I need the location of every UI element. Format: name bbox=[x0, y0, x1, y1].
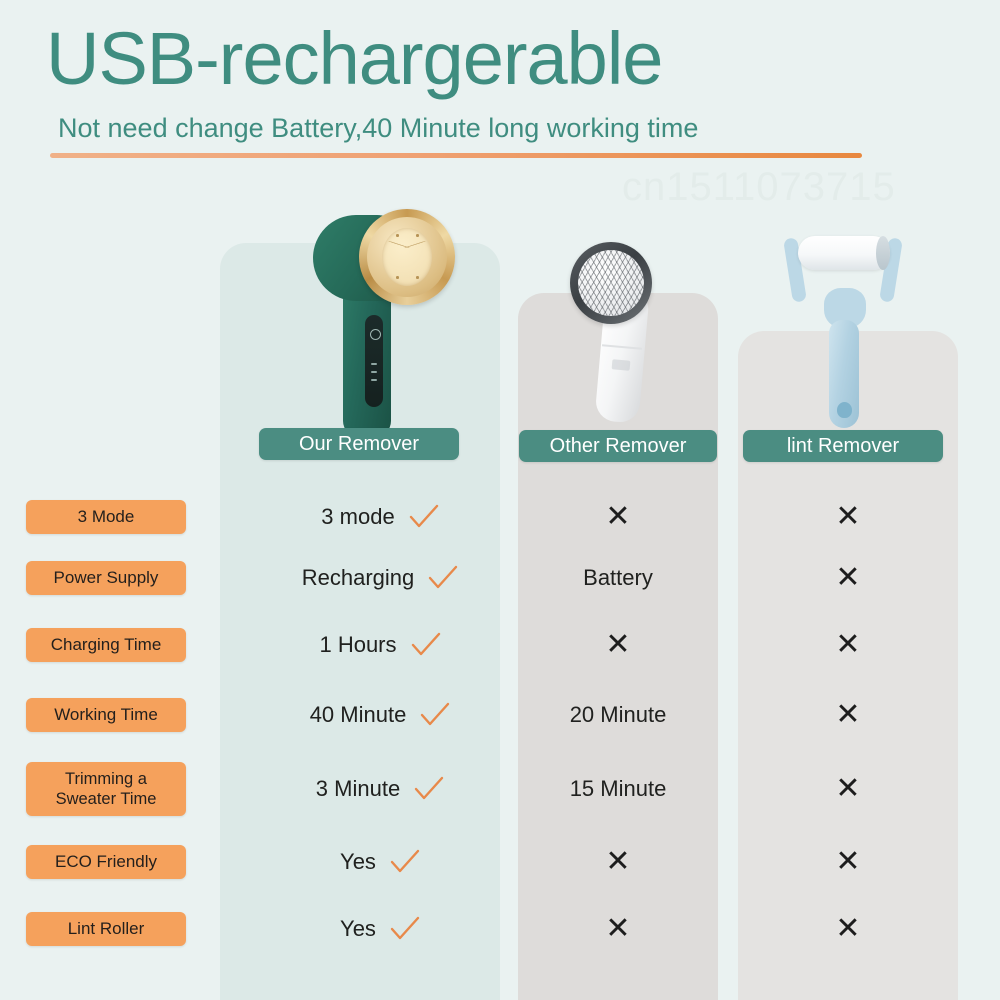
cross-icon: ✕ bbox=[605, 914, 630, 944]
cell-value: 40 Minute bbox=[310, 702, 407, 728]
cell-lint: ✕ bbox=[740, 558, 956, 598]
cell-other: ✕ bbox=[520, 909, 716, 949]
header-divider bbox=[50, 153, 862, 158]
cell-other: Battery bbox=[520, 558, 716, 598]
cell-value: 20 Minute bbox=[570, 702, 667, 728]
page-subtitle: Not need change Battery,40 Minute long w… bbox=[58, 112, 698, 144]
cell-value: 1 Hours bbox=[319, 632, 396, 658]
cell-value: Battery bbox=[583, 565, 653, 591]
cell-other: ✕ bbox=[520, 497, 716, 537]
green-fabric-shaver-icon bbox=[255, 205, 475, 440]
column-header-ours[interactable]: Our Remover bbox=[259, 428, 459, 460]
watermark-text: cn1511073715 bbox=[622, 165, 896, 209]
cross-icon: ✕ bbox=[835, 914, 860, 944]
cell-value: Yes bbox=[340, 849, 376, 875]
cell-lint: ✕ bbox=[740, 842, 956, 882]
row-label-text: 3 Mode bbox=[78, 507, 135, 527]
cell-value: Yes bbox=[340, 916, 376, 942]
cross-icon: ✕ bbox=[605, 847, 630, 877]
row-label: Charging Time bbox=[26, 628, 186, 662]
cell-lint: ✕ bbox=[740, 695, 956, 735]
cell-lint: ✕ bbox=[740, 769, 956, 809]
cell-ours: Yes bbox=[262, 842, 498, 882]
cell-lint: ✕ bbox=[740, 625, 956, 665]
column-header-lint[interactable]: lint Remover bbox=[743, 430, 943, 462]
cell-lint: ✕ bbox=[740, 497, 956, 537]
cell-ours: 1 Hours bbox=[262, 625, 498, 665]
cell-other: 15 Minute bbox=[520, 769, 716, 809]
blue-lint-roller-icon bbox=[772, 232, 922, 432]
cross-icon: ✕ bbox=[835, 563, 860, 593]
white-lint-shaver-icon bbox=[552, 240, 702, 430]
cell-other: 20 Minute bbox=[520, 695, 716, 735]
cross-icon: ✕ bbox=[835, 700, 860, 730]
cell-ours: Recharging bbox=[262, 558, 498, 598]
check-icon bbox=[420, 702, 450, 728]
cross-icon: ✕ bbox=[835, 630, 860, 660]
check-icon bbox=[409, 504, 439, 530]
row-label-text: Charging Time bbox=[51, 635, 162, 655]
cross-icon: ✕ bbox=[835, 774, 860, 804]
row-label-text: Trimming aSweater Time bbox=[56, 769, 157, 809]
row-label-text: Power Supply bbox=[54, 568, 159, 588]
cell-lint: ✕ bbox=[740, 909, 956, 949]
cross-icon: ✕ bbox=[605, 630, 630, 660]
row-label-text: Working Time bbox=[54, 705, 158, 725]
check-icon bbox=[428, 565, 458, 591]
cell-value: Recharging bbox=[302, 565, 415, 591]
cell-value: 3 mode bbox=[321, 504, 394, 530]
check-icon bbox=[414, 776, 444, 802]
page-title: USB-rechargerable bbox=[46, 18, 662, 100]
row-label: 3 Mode bbox=[26, 500, 186, 534]
check-icon bbox=[390, 916, 420, 942]
cross-icon: ✕ bbox=[835, 847, 860, 877]
cell-ours: Yes bbox=[262, 909, 498, 949]
cell-ours: 3 Minute bbox=[262, 769, 498, 809]
check-icon bbox=[411, 632, 441, 658]
cross-icon: ✕ bbox=[835, 502, 860, 532]
row-label: ECO Friendly bbox=[26, 845, 186, 879]
column-header-other[interactable]: Other Remover bbox=[519, 430, 717, 462]
cell-value: 15 Minute bbox=[570, 776, 667, 802]
row-label: Working Time bbox=[26, 698, 186, 732]
cell-ours: 40 Minute bbox=[262, 695, 498, 735]
row-label-text: Lint Roller bbox=[68, 919, 145, 939]
cell-value: 3 Minute bbox=[316, 776, 400, 802]
check-icon bbox=[390, 849, 420, 875]
comparison-infographic: USB-rechargerable Not need change Batter… bbox=[0, 0, 1000, 1000]
cell-ours: 3 mode bbox=[262, 497, 498, 537]
cell-other: ✕ bbox=[520, 625, 716, 665]
row-label-text: ECO Friendly bbox=[55, 852, 157, 872]
row-label: Lint Roller bbox=[26, 912, 186, 946]
row-label: Trimming aSweater Time bbox=[26, 762, 186, 816]
cell-other: ✕ bbox=[520, 842, 716, 882]
cross-icon: ✕ bbox=[605, 502, 630, 532]
row-label: Power Supply bbox=[26, 561, 186, 595]
